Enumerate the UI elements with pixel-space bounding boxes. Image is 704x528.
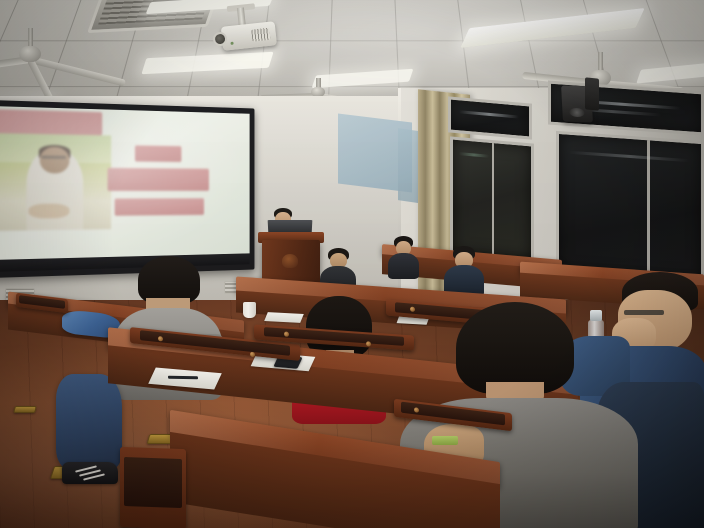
wall-speaker-icon: [585, 77, 599, 110]
slide-title-text: [0, 109, 102, 112]
chair-knob: [250, 352, 255, 358]
student-back-row: [322, 248, 354, 286]
slide-box: [135, 145, 181, 162]
podium-emblem-icon: [282, 254, 298, 268]
chair-knob: [410, 307, 415, 312]
student-dark-jacket-a: [388, 236, 418, 270]
projection-screen: [0, 100, 254, 278]
projector-vent: [251, 28, 270, 42]
classroom-photo: [0, 0, 704, 528]
fan-motor: [19, 46, 41, 62]
slide-content: [0, 106, 250, 260]
window-lower: [556, 131, 704, 283]
window-mullion: [492, 143, 494, 255]
hair: [138, 256, 200, 304]
window-lower: [450, 136, 534, 261]
student-navy-jacket: [446, 246, 482, 286]
window-upper: [448, 96, 532, 139]
glasses-icon: [624, 310, 664, 315]
hair: [456, 302, 574, 394]
chair-knob: [366, 341, 371, 346]
slide-box: [115, 198, 204, 216]
student-grey-sweater-legs: [56, 374, 122, 470]
photo-person-head: [40, 147, 70, 174]
screen-surface: [0, 106, 250, 260]
photo-person-hands: [29, 203, 70, 219]
window-reflection: [459, 110, 519, 118]
chair-foreground: [120, 447, 186, 528]
slide-title-bar: [0, 109, 102, 135]
floor-outlet-icon: [13, 406, 37, 413]
window-reflection: [569, 151, 689, 162]
green-card-object: [432, 436, 458, 445]
window-mullion: [647, 140, 650, 276]
slide-box: [108, 168, 209, 191]
pen: [168, 376, 198, 380]
photo-person-glasses-icon: [42, 155, 66, 159]
paper-cup: [243, 302, 256, 318]
sneaker: [62, 462, 118, 484]
slide-photo: [0, 133, 111, 231]
chair-knob: [414, 407, 419, 413]
chair-knob: [158, 336, 163, 342]
window-reflection: [459, 152, 489, 158]
chair-knob: [284, 332, 289, 337]
torso: [388, 253, 419, 279]
